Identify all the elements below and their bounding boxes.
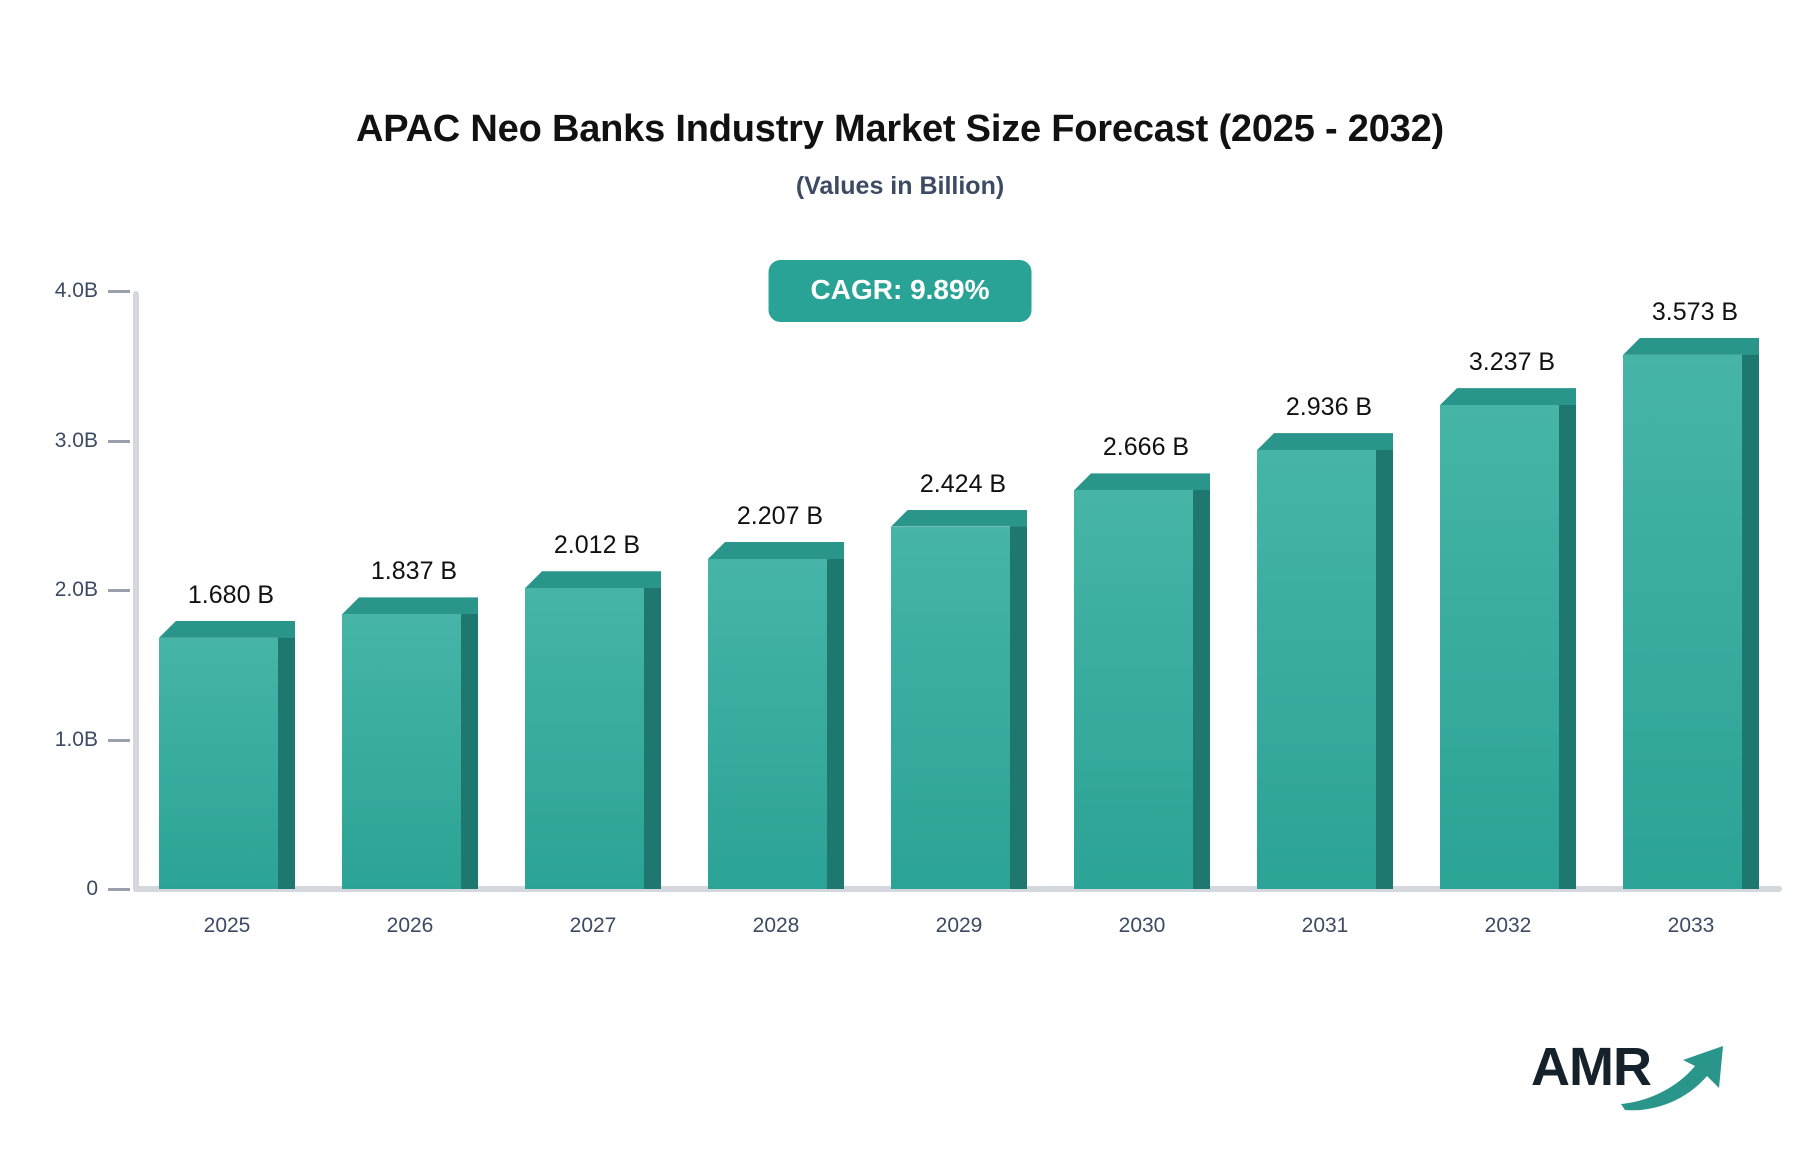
y-tick-label: 1.0B <box>55 728 98 752</box>
bar-side-face <box>1376 433 1393 889</box>
bar-value-label: 2.012 B <box>467 531 727 560</box>
bar-front-face <box>525 588 644 889</box>
bar-column <box>1257 433 1393 889</box>
bar-column <box>1074 473 1210 889</box>
x-tick-label: 2033 <box>1668 914 1715 938</box>
bar-column <box>525 571 661 889</box>
x-tick-label: 2026 <box>387 914 434 938</box>
chart-page: APAC Neo Banks Industry Market Size Fore… <box>0 0 1800 1156</box>
bar-front-face <box>159 638 278 889</box>
bar-top-face <box>1257 433 1393 450</box>
bar-value-label: 3.237 B <box>1382 348 1642 377</box>
bar-value-label: 2.424 B <box>833 470 1093 499</box>
bar-side-face <box>1559 388 1576 889</box>
y-tick-label: 2.0B <box>55 578 98 602</box>
y-tick-mark <box>108 440 130 443</box>
x-tick-label: 2031 <box>1302 914 1349 938</box>
bar-side-face <box>1010 510 1027 889</box>
bar-value-label: 2.207 B <box>650 502 910 531</box>
x-tick-label: 2027 <box>570 914 617 938</box>
bar-front-face <box>708 559 827 889</box>
bar-side-face <box>1193 473 1210 889</box>
bar-column <box>891 510 1027 889</box>
x-tick-label: 2025 <box>204 914 251 938</box>
x-tick-label: 2029 <box>936 914 983 938</box>
x-tick-label: 2030 <box>1119 914 1166 938</box>
bar-top-face <box>708 542 844 559</box>
y-tick-mark <box>108 888 130 891</box>
y-tick-label: 0 <box>86 877 98 901</box>
bar-top-face <box>1623 338 1759 355</box>
bar-top-face <box>1440 388 1576 405</box>
bar-side-face <box>1742 338 1759 889</box>
x-tick-label: 2032 <box>1485 914 1532 938</box>
bar-top-face <box>1074 473 1210 490</box>
x-tick-label: 2028 <box>753 914 800 938</box>
bar-column <box>1440 388 1576 889</box>
y-tick-mark <box>108 290 130 293</box>
bar-top-face <box>525 571 661 588</box>
bar-side-face <box>827 542 844 889</box>
bar-side-face <box>644 571 661 889</box>
bar-front-face <box>891 527 1010 889</box>
bar-column <box>342 597 478 889</box>
bar-top-face <box>891 510 1027 527</box>
bar-top-face <box>342 597 478 614</box>
bar-column <box>1623 338 1759 889</box>
bar-front-face <box>1623 355 1742 889</box>
bar-value-label: 3.573 B <box>1565 298 1800 327</box>
bar-front-face <box>1440 405 1559 889</box>
plot-area: 01.0B2.0B3.0B4.0B 1.680 B1.837 B2.012 B2… <box>0 0 1800 1156</box>
bar-side-face <box>461 597 478 889</box>
bar-front-face <box>1074 490 1193 889</box>
bar-column <box>708 542 844 889</box>
bar-value-label: 2.936 B <box>1199 393 1459 422</box>
amr-logo: AMR <box>1531 1038 1741 1116</box>
bar-value-label: 2.666 B <box>1016 433 1276 462</box>
y-tick-mark <box>108 739 130 742</box>
bar-front-face <box>342 614 461 889</box>
y-tick-label: 4.0B <box>55 279 98 303</box>
bar-top-face <box>159 621 295 638</box>
bar-column <box>159 621 295 889</box>
rising-arrow-icon <box>1619 1042 1739 1112</box>
bar-front-face <box>1257 450 1376 889</box>
bar-value-label: 1.837 B <box>284 557 544 586</box>
bar-side-face <box>278 621 295 889</box>
y-tick-label: 3.0B <box>55 429 98 453</box>
